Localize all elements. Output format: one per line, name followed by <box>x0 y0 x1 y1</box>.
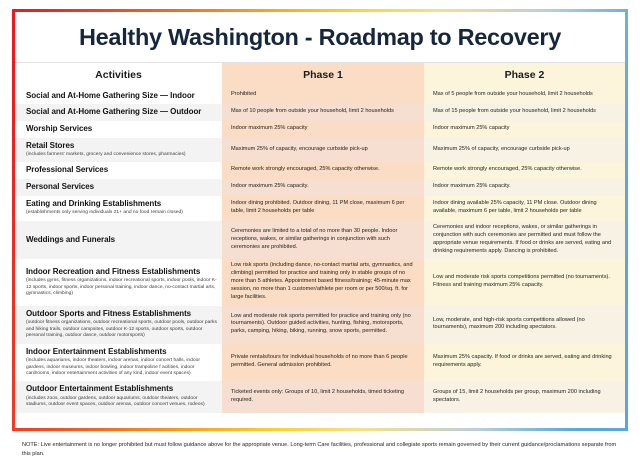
table-row: Worship ServicesIndoor maximum 25% capac… <box>15 121 625 138</box>
cell-activity: Worship Services <box>15 121 222 138</box>
cell-activity: Outdoor Entertainment Establishments(inc… <box>15 381 222 412</box>
roadmap-document: Healthy Washington - Roadmap to Recovery… <box>0 0 640 468</box>
cell-activity: Weddings and Funerals <box>15 221 222 260</box>
phase1-text: Low and moderate risk sports permitted f… <box>231 313 417 337</box>
phase2-text: Indoor dining available 25% capacity, 11… <box>433 200 618 216</box>
cell-activity: Personal Services <box>15 179 222 196</box>
activity-title: Indoor Recreation and Fitness Establishm… <box>26 267 217 277</box>
page-title: Healthy Washington - Roadmap to Recovery <box>79 24 561 51</box>
table-row: Indoor Recreation and Fitness Establishm… <box>15 259 625 306</box>
column-header-phase2: Phase 2 <box>424 63 625 88</box>
cell-phase2: Ceremonies and indoor receptions, wakes,… <box>424 221 625 260</box>
phase1-text: Max of 10 people from outside your house… <box>231 108 417 116</box>
activity-subtitle: (establishments only serving individuals… <box>26 210 217 216</box>
phase1-text: Indoor maximum 25% capacity. <box>231 183 417 191</box>
table-row: Weddings and FuneralsCeremonies are limi… <box>15 221 625 260</box>
table-row: Outdoor Entertainment Establishments(inc… <box>15 381 625 412</box>
activity-title: Outdoor Sports and Fitness Establishment… <box>26 309 217 319</box>
cell-phase2: Max of 5 people from outside your househ… <box>424 88 625 105</box>
cell-phase1: Ceremonies are limited to a total of no … <box>222 221 424 260</box>
phase1-text: Private rentals/tours for individual hou… <box>231 354 417 370</box>
cell-activity: Indoor Recreation and Fitness Establishm… <box>15 259 222 306</box>
table-row: Eating and Drinking Establishments(estab… <box>15 196 625 221</box>
cell-phase1: Low risk sports (including dance, no-con… <box>222 259 424 306</box>
cell-phase1: Maximum 25% of capacity, encourage curbs… <box>222 138 424 163</box>
cell-phase1: Indoor dining prohibited. Outdoor dining… <box>222 196 424 221</box>
activity-subtitle: (outdoor fitness organizations, outdoor … <box>26 320 217 339</box>
cell-phase2: Indoor dining available 25% capacity, 11… <box>424 196 625 221</box>
phase1-text: Ticketed events only: Groups of 10, limi… <box>231 389 417 405</box>
table-row: Social and At-Home Gathering Size — Indo… <box>15 88 625 105</box>
cell-phase2: Indoor maximum 25% capacity <box>424 121 625 138</box>
phase1-text: Prohibited <box>231 91 417 99</box>
column-header-phase1: Phase 1 <box>222 63 424 88</box>
cell-phase2: Low, moderate, and high-risk sports comp… <box>424 306 625 344</box>
activity-subtitle: (includes farmers' markets, grocery and … <box>26 152 217 158</box>
phase2-text: Low and moderate risk sports competition… <box>433 274 618 290</box>
phase1-text: Low risk sports (including dance, no-con… <box>231 262 417 302</box>
activity-title: Retail Stores <box>26 141 217 151</box>
table-row: Social and At-Home Gathering Size — Outd… <box>15 104 625 121</box>
cell-activity: Indoor Entertainment Establishments(incl… <box>15 344 222 382</box>
activity-title: Professional Services <box>26 165 217 175</box>
activity-title: Worship Services <box>26 124 217 134</box>
activity-title: Personal Services <box>26 182 217 192</box>
cell-phase1: Low and moderate risk sports permitted f… <box>222 306 424 344</box>
cell-activity: Professional Services <box>15 162 222 179</box>
activity-title: Eating and Drinking Establishments <box>26 199 217 209</box>
frame-inner: Healthy Washington - Roadmap to Recovery… <box>15 12 625 428</box>
activity-title: Weddings and Funerals <box>26 235 217 245</box>
phase2-text: Max of 15 people from outside your house… <box>433 108 618 116</box>
phase1-text: Maximum 25% of capacity, encourage curbs… <box>231 146 417 154</box>
phase2-text: Groups of 15, limit 2 households per gro… <box>433 389 618 405</box>
roadmap-table: Activities Phase 1 Phase 2 Social and At… <box>15 62 625 413</box>
phase2-text: Low, moderate, and high-risk sports comp… <box>433 317 618 333</box>
activity-title: Indoor Entertainment Establishments <box>26 347 217 357</box>
cell-phase2: Max of 15 people from outside your house… <box>424 104 625 121</box>
cell-phase1: Indoor maximum 25% capacity <box>222 121 424 138</box>
cell-phase2: Indoor maximum 25% capacity. <box>424 179 625 196</box>
cell-phase2: Maximum 25% of capacity, encourage curbs… <box>424 138 625 163</box>
phase1-text: Ceremonies are limited to a total of no … <box>231 228 417 252</box>
table-body: Social and At-Home Gathering Size — Indo… <box>15 88 625 413</box>
activity-title: Social and At-Home Gathering Size — Outd… <box>26 107 217 117</box>
title-bar: Healthy Washington - Roadmap to Recovery <box>15 12 625 62</box>
cell-phase1: Ticketed events only: Groups of 10, limi… <box>222 381 424 412</box>
gradient-frame: Healthy Washington - Roadmap to Recovery… <box>12 9 628 431</box>
phase2-text: Indoor maximum 25% capacity <box>433 125 618 133</box>
activity-subtitle: (includes zoos, outdoor gardens, outdoor… <box>26 396 217 409</box>
activity-title: Outdoor Entertainment Establishments <box>26 384 217 394</box>
footer-note: NOTE: Live entertainment is no longer pr… <box>22 441 622 459</box>
cell-activity: Retail Stores(includes farmers' markets,… <box>15 138 222 163</box>
cell-phase1: Private rentals/tours for individual hou… <box>222 344 424 382</box>
phase2-text: Remote work strongly encouraged, 25% cap… <box>433 166 618 174</box>
phase1-text: Indoor dining prohibited. Outdoor dining… <box>231 200 417 216</box>
cell-phase1: Prohibited <box>222 88 424 105</box>
table-row: Outdoor Sports and Fitness Establishment… <box>15 306 625 344</box>
cell-phase2: Remote work strongly encouraged, 25% cap… <box>424 162 625 179</box>
phase2-text: Ceremonies and indoor receptions, wakes,… <box>433 224 618 256</box>
phase1-text: Indoor maximum 25% capacity <box>231 125 417 133</box>
table-header: Activities Phase 1 Phase 2 <box>15 63 625 88</box>
table-header-row: Activities Phase 1 Phase 2 <box>15 63 625 88</box>
cell-phase2: Low and moderate risk sports competition… <box>424 259 625 306</box>
phase2-text: Maximum 25% capacity. If food or drinks … <box>433 354 618 370</box>
activity-subtitle: (includes aquariums, indoor theaters, in… <box>26 358 217 377</box>
table-row: Personal ServicesIndoor maximum 25% capa… <box>15 179 625 196</box>
cell-activity: Outdoor Sports and Fitness Establishment… <box>15 306 222 344</box>
activity-subtitle: (includes gyms, fitness organizations, i… <box>26 278 217 297</box>
cell-phase2: Maximum 25% capacity. If food or drinks … <box>424 344 625 382</box>
activity-title: Social and At-Home Gathering Size — Indo… <box>26 91 217 101</box>
cell-activity: Eating and Drinking Establishments(estab… <box>15 196 222 221</box>
table-row: Retail Stores(includes farmers' markets,… <box>15 138 625 163</box>
column-header-activities: Activities <box>15 63 222 88</box>
phase2-text: Max of 5 people from outside your househ… <box>433 91 618 99</box>
cell-phase1: Remote work strongly encouraged, 25% cap… <box>222 162 424 179</box>
cell-phase2: Groups of 15, limit 2 households per gro… <box>424 381 625 412</box>
cell-activity: Social and At-Home Gathering Size — Indo… <box>15 88 222 105</box>
cell-phase1: Indoor maximum 25% capacity. <box>222 179 424 196</box>
cell-activity: Social and At-Home Gathering Size — Outd… <box>15 104 222 121</box>
phase2-text: Maximum 25% of capacity, encourage curbs… <box>433 146 618 154</box>
table-row: Indoor Entertainment Establishments(incl… <box>15 344 625 382</box>
cell-phase1: Max of 10 people from outside your house… <box>222 104 424 121</box>
phase2-text: Indoor maximum 25% capacity. <box>433 183 618 191</box>
table-row: Professional ServicesRemote work strongl… <box>15 162 625 179</box>
phase1-text: Remote work strongly encouraged, 25% cap… <box>231 166 417 174</box>
